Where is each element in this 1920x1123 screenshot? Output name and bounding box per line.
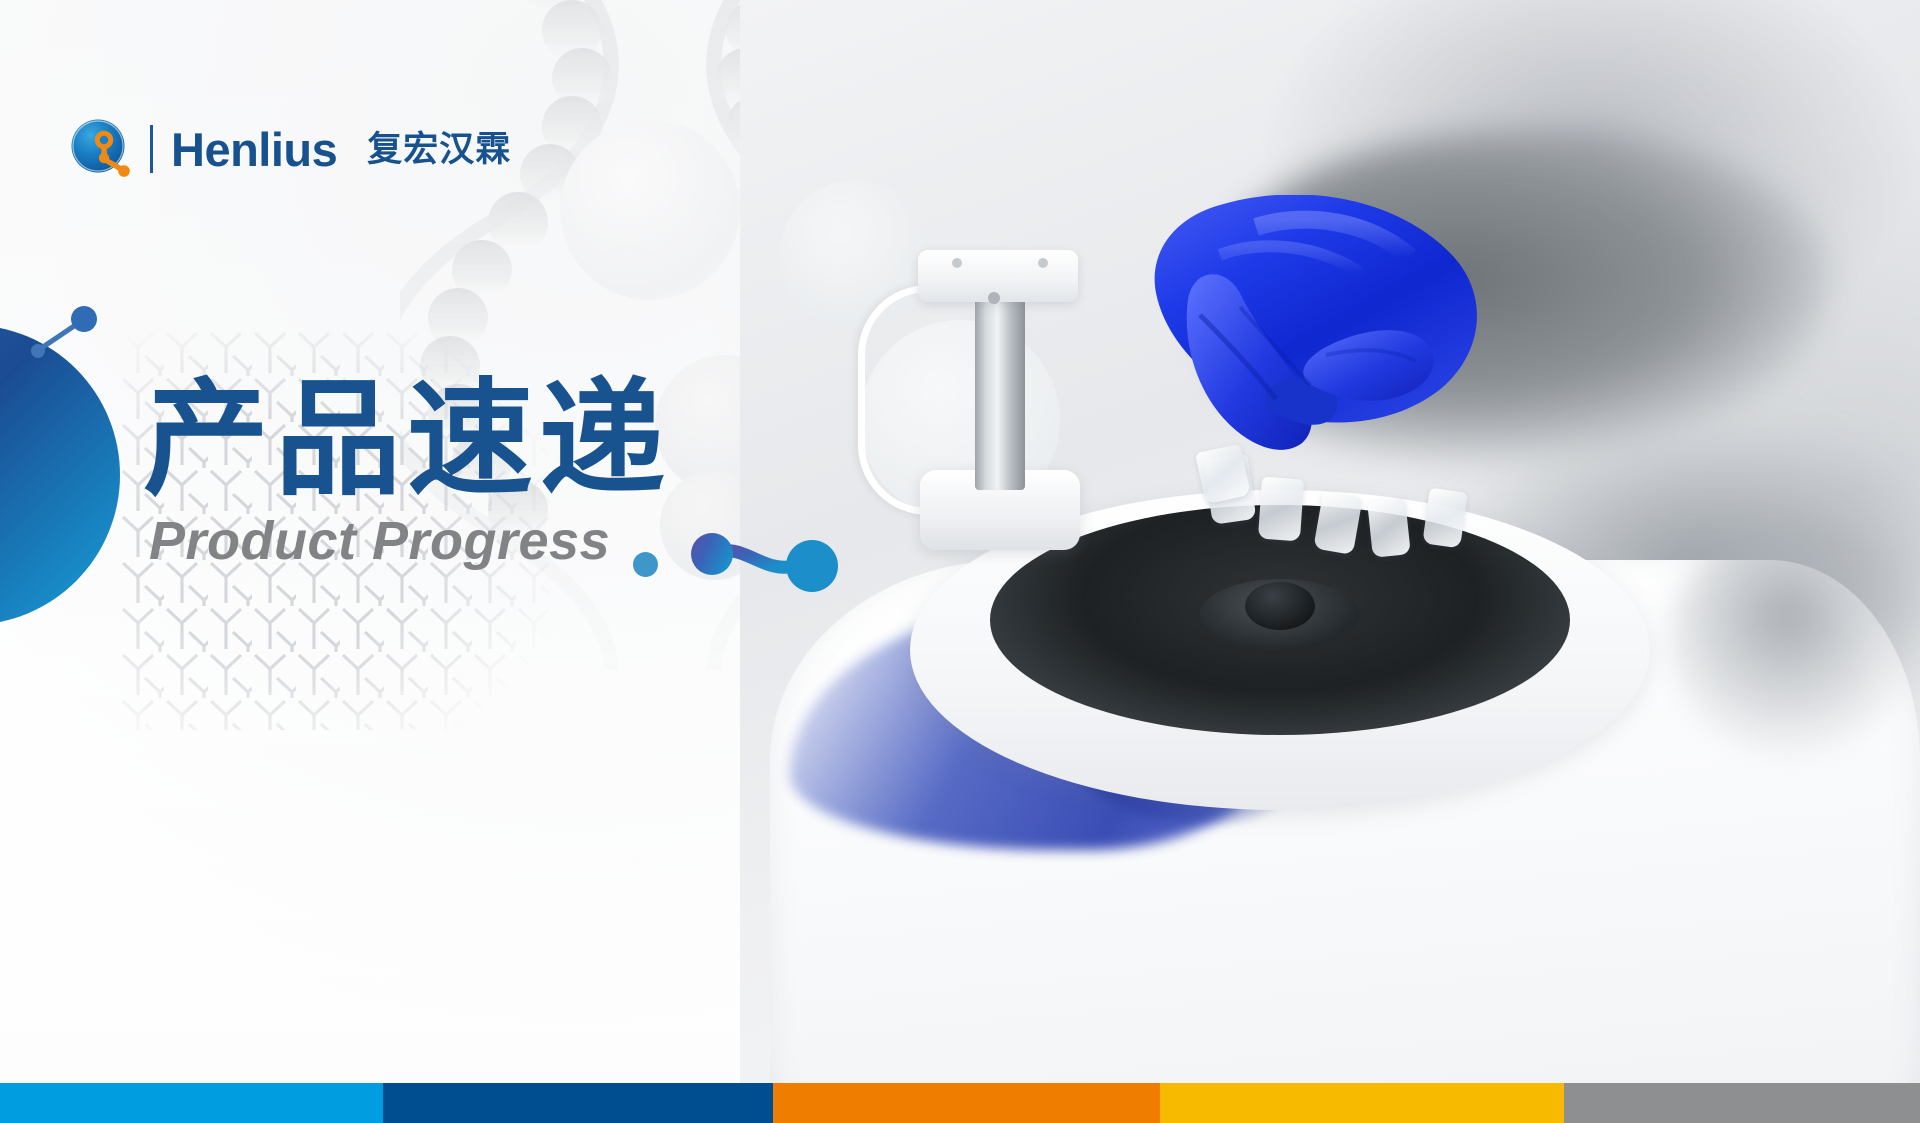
footer-color-bar [0,1083,1920,1123]
colorbar-segment-2 [383,1083,773,1123]
page-title: 产品速递 [143,372,671,508]
slide-canvas: Henlius 复宏汉霖 产品速递 Product Progress [0,0,1920,1123]
logo-chinese-name: 复宏汉霖 [367,132,511,167]
colorbar-segment-5 [1564,1083,1920,1123]
colorbar-segment-1 [0,1083,383,1123]
colorbar-segment-4 [1160,1083,1564,1123]
logo-wordmark: Henlius [171,126,337,173]
gloved-hand [1070,195,1490,555]
henlius-logo-mark [70,118,132,180]
title-block: 产品速递 Product Progress [143,372,671,571]
bokeh-circle [560,120,740,300]
henlius-logo[interactable]: Henlius 复宏汉霖 [70,118,511,180]
centrifuge-metal-shaft [975,290,1025,490]
colorbar-segment-3 [773,1083,1160,1123]
molecule-node-decoration [22,305,102,360]
page-subtitle: Product Progress [149,512,671,571]
logo-divider [150,125,153,173]
laboratory-centrifuge-photo [740,0,1920,1085]
molecule-dumbbell-decoration [690,532,850,598]
cyan-dot-decoration [633,552,658,577]
